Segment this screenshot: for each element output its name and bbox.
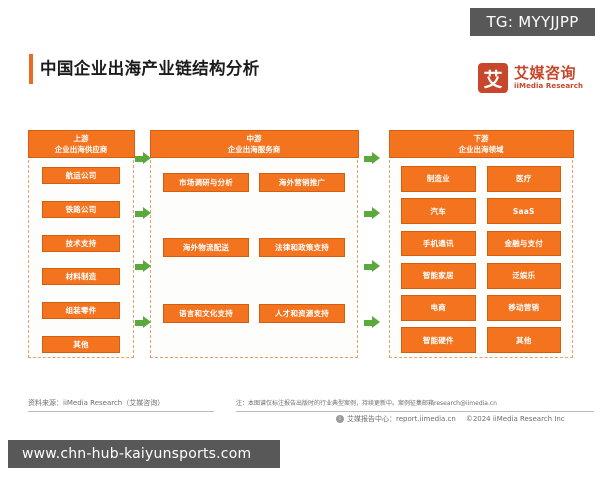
report-center-text: 艾媒报告中心：report.iimedia.cn (347, 414, 456, 424)
node-item[interactable]: 泛娱乐 (487, 263, 562, 289)
column-downstream: 下游 企业出海领域 制造业 医疗 汽车 SaaS 手机通讯 金融与支付 智能家居… (389, 130, 573, 358)
node-item[interactable]: 手机通讯 (401, 231, 476, 257)
url-watermark-text: www.chn-hub-kaiyunsports.com (22, 446, 251, 462)
arrow-right-icon (364, 316, 380, 329)
logo-wordmark: 艾媒咨询 iiMedia Research (514, 65, 583, 91)
column-body-downstream: 制造业 医疗 汽车 SaaS 手机通讯 金融与支付 智能家居 泛娱乐 电商 移动… (390, 159, 572, 359)
node-item[interactable]: 材料制造 (42, 268, 120, 285)
footer-divider-left (28, 411, 214, 412)
column-header-line1: 中游 (247, 133, 262, 144)
node-item[interactable]: 智能家居 (401, 263, 476, 289)
node-item[interactable]: 组装零件 (42, 302, 120, 319)
downstream-node-grid: 制造业 医疗 汽车 SaaS 手机通讯 金融与支付 智能家居 泛娱乐 电商 移动… (390, 159, 572, 359)
node-item[interactable]: 技术支持 (42, 235, 120, 252)
copyright-text: ©2024 iiMedia Research Inc (466, 415, 565, 423)
node-item[interactable]: 移动营销 (487, 295, 562, 321)
column-header-upstream: 上游 企业出海供应商 (28, 130, 135, 158)
column-header-line2: 企业出海领域 (459, 144, 504, 155)
column-upstream: 上游 企业出海供应商 航运公司 铁路公司 技术支持 材料制造 组装零件 其他 (28, 130, 134, 358)
node-item[interactable]: 航运公司 (42, 167, 120, 184)
column-header-line2: 企业出海服务商 (228, 144, 281, 155)
node-item[interactable]: 其他 (487, 327, 562, 353)
imedia-logo: 艾 艾媒咨询 iiMedia Research (478, 60, 590, 96)
column-body-midstream: 市场调研与分析 海外营销推广 海外物流配送 法律和政策支持 语言和文化支持 人才… (151, 159, 357, 359)
arrow-right-icon (364, 207, 380, 220)
source-text: 资料来源：iiMedia Research（艾媒咨询） (28, 398, 164, 408)
footer-divider-right (236, 411, 594, 412)
node-item[interactable]: 海外营销推广 (259, 173, 345, 192)
url-watermark-bar: www.chn-hub-kaiyunsports.com (8, 440, 280, 468)
arrow-right-icon (135, 207, 151, 220)
arrow-right-icon (135, 316, 151, 329)
column-header-midstream: 中游 企业出海服务商 (150, 130, 359, 158)
page-title: 中国企业出海产业链结构分析 (40, 52, 260, 86)
node-item[interactable]: 电商 (401, 295, 476, 321)
node-item[interactable]: 人才和资源支持 (259, 304, 345, 323)
node-item[interactable]: 金融与支付 (487, 231, 562, 257)
column-header-downstream: 下游 企业出海领域 (389, 130, 574, 158)
column-header-line2: 企业出海供应商 (55, 144, 108, 155)
column-header-line1: 下游 (474, 133, 489, 144)
arrow-right-icon (364, 260, 380, 273)
node-item[interactable]: 医疗 (487, 166, 562, 192)
node-item[interactable]: 其他 (42, 336, 120, 353)
node-item[interactable]: 制造业 (401, 166, 476, 192)
node-item[interactable]: SaaS (487, 198, 562, 224)
upstream-node-list: 航运公司 铁路公司 技术支持 材料制造 组装零件 其他 (29, 159, 133, 359)
report-center-line: i 艾媒报告中心：report.iimedia.cn ©2024 iiMedia… (336, 414, 565, 424)
node-item[interactable]: 市场调研与分析 (163, 173, 249, 192)
telegram-watermark-text: TG: MYYJJPP (486, 13, 578, 31)
report-center-icon: i (336, 415, 344, 423)
column-midstream: 中游 企业出海服务商 市场调研与分析 海外营销推广 海外物流配送 法律和政策支持… (150, 130, 358, 358)
footer-note-text: 注：本图谱仅标注报告出版时的行业典型案例，持续更新中。案例征集邮箱researc… (236, 398, 497, 407)
arrow-right-icon (135, 152, 151, 165)
footer: 资料来源：iiMedia Research（艾媒咨询） 注：本图谱仅标注报告出版… (0, 396, 600, 436)
value-chain-diagram: 上游 企业出海供应商 航运公司 铁路公司 技术支持 材料制造 组装零件 其他 中… (0, 130, 600, 375)
node-item[interactable]: 铁路公司 (42, 201, 120, 218)
arrow-right-icon (364, 152, 380, 165)
node-item[interactable]: 法律和政策支持 (259, 238, 345, 257)
telegram-watermark-badge: TG: MYYJJPP (470, 8, 595, 36)
node-item[interactable]: 海外物流配送 (163, 238, 249, 257)
column-header-line1: 上游 (74, 133, 89, 144)
node-item[interactable]: 智能硬件 (401, 327, 476, 353)
arrow-right-icon (135, 260, 151, 273)
node-item[interactable]: 汽车 (401, 198, 476, 224)
slide-canvas: TG: MYYJJPP 中国企业出海产业链结构分析 艾 艾媒咨询 iiMedia… (0, 0, 600, 480)
logo-name-en: iiMedia Research (514, 82, 583, 91)
title-accent-bar (29, 54, 33, 84)
node-item[interactable]: 语言和文化支持 (163, 304, 249, 323)
logo-name-cn: 艾媒咨询 (514, 65, 583, 82)
logo-mark-icon: 艾 (478, 63, 508, 93)
column-body-upstream: 航运公司 铁路公司 技术支持 材料制造 组装零件 其他 (29, 159, 133, 359)
midstream-node-grid: 市场调研与分析 海外营销推广 海外物流配送 法律和政策支持 语言和文化支持 人才… (151, 159, 357, 359)
